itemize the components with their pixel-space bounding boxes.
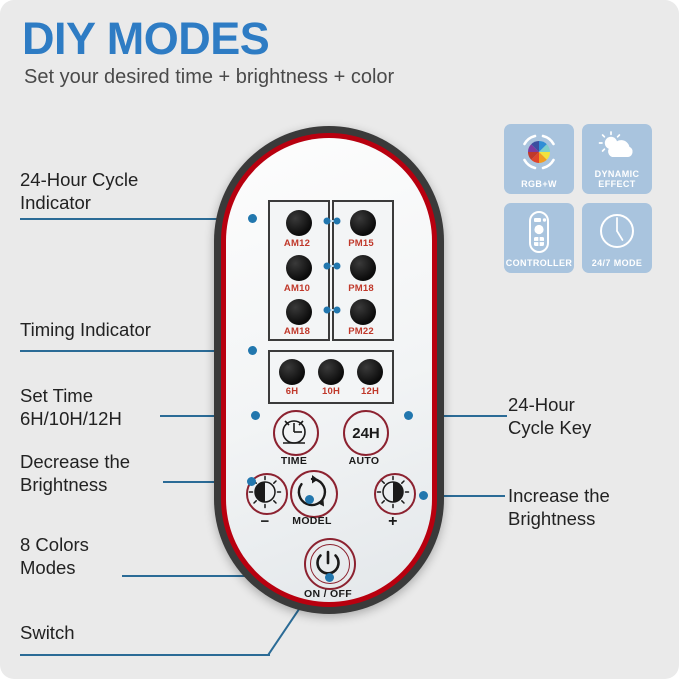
- duration-grid: 6H 10H 12H: [268, 350, 394, 404]
- timer-grid-left: AM12 AM10 AM18: [268, 200, 330, 341]
- badge-dynamic-effect: DYNAMIC EFFECT: [582, 124, 652, 194]
- page-title: DIY MODES: [22, 16, 269, 61]
- callout-line1: Timing Indicator: [20, 318, 151, 341]
- timer-button[interactable]: [286, 299, 312, 325]
- badge-label-line2: EFFECT: [598, 179, 635, 189]
- duration-button-label: 10H: [309, 386, 353, 397]
- sun-cloud-icon: [582, 131, 652, 161]
- model-button[interactable]: [290, 470, 338, 518]
- callout-switch: Switch: [20, 621, 75, 644]
- brightness-up-icon: [376, 475, 410, 509]
- callout-line1: Set Time: [20, 384, 122, 407]
- remote-control-body: AM12 AM10 AM18 PM15 PM18 PM22: [214, 126, 444, 614]
- callout-cycle-indicator: 24-Hour Cycle Indicator: [20, 168, 138, 214]
- duration-button[interactable]: [318, 359, 344, 385]
- 24h-text-icon: 24H: [352, 425, 380, 442]
- timer-button[interactable]: [286, 255, 312, 281]
- leader-dot-set-time: [251, 411, 260, 420]
- callout-line2: Brightness: [20, 473, 130, 496]
- leader-dot-timing-indicator: [248, 346, 257, 355]
- duration-button[interactable]: [357, 359, 383, 385]
- auto-24h-button[interactable]: 24H: [343, 410, 389, 456]
- page-subtitle: Set your desired time + brightness + col…: [24, 66, 394, 89]
- leader-dot-decrease: [247, 477, 256, 486]
- auto-24h-button-label: AUTO: [329, 455, 399, 467]
- brightness-up-label: +: [358, 513, 428, 531]
- cycle-arrow-icon: [292, 472, 332, 512]
- power-button[interactable]: [304, 538, 356, 590]
- model-button-label: MODEL: [277, 515, 347, 527]
- badge-label: CONTROLLER: [506, 258, 573, 273]
- callout-decrease-brightness: Decrease the Brightness: [20, 450, 130, 496]
- callout-line1: Switch: [20, 621, 75, 644]
- timer-button[interactable]: [350, 255, 376, 281]
- badge-label-line1: DYNAMIC: [595, 169, 640, 179]
- callout-line1: Increase the: [508, 484, 610, 507]
- leader-dot-cycle-key: [404, 411, 413, 420]
- leader-dot-cycle-indicator: [248, 214, 257, 223]
- badge-label: RGB+W: [521, 179, 557, 194]
- callout-line2: 6H/10H/12H: [20, 407, 122, 430]
- callout-line1: Decrease the: [20, 450, 130, 473]
- callout-line1: 24-Hour Cycle: [20, 168, 138, 191]
- clock-icon: [582, 210, 652, 254]
- callout-line1: 24-Hour: [508, 393, 591, 416]
- leader-dot-colors: [305, 495, 314, 504]
- callout-timing-indicator: Timing Indicator: [20, 318, 151, 341]
- callout-cycle-key: 24-Hour Cycle Key: [508, 393, 591, 439]
- badge-rgbw: RGB+W: [504, 124, 574, 194]
- timer-button-label: PM15: [339, 238, 383, 249]
- timer-grid-right: PM15 PM18 PM22: [332, 200, 394, 341]
- remote-face: AM12 AM10 AM18 PM15 PM18 PM22: [226, 138, 432, 602]
- callout-line1: 8 Colors: [20, 533, 89, 556]
- callout-8-colors-modes: 8 Colors Modes: [20, 533, 89, 579]
- infographic-panel: DIY MODES Set your desired time + bright…: [0, 0, 679, 679]
- duration-button[interactable]: [279, 359, 305, 385]
- timer-button[interactable]: [350, 299, 376, 325]
- leader-dot-switch: [325, 573, 334, 582]
- callout-set-time: Set Time 6H/10H/12H: [20, 384, 122, 430]
- timer-button-label: PM18: [339, 283, 383, 294]
- color-wheel-icon: [504, 131, 574, 173]
- timer-button-label: AM18: [275, 326, 319, 337]
- time-button-label: TIME: [259, 455, 329, 467]
- badge-label: 24/7 MODE: [592, 258, 643, 273]
- brightness-up-button[interactable]: [374, 473, 416, 515]
- timer-button-label: AM10: [275, 283, 319, 294]
- callout-line2: Brightness: [508, 507, 610, 530]
- callout-line2: Indicator: [20, 191, 138, 214]
- remote-controller-icon: [504, 210, 574, 254]
- duration-button-label: 12H: [348, 386, 392, 397]
- callout-line2: Cycle Key: [508, 416, 591, 439]
- timer-button[interactable]: [350, 210, 376, 236]
- callout-line2: Modes: [20, 556, 89, 579]
- badge-247-mode: 24/7 MODE: [582, 203, 652, 273]
- timer-button-label: AM12: [275, 238, 319, 249]
- callout-increase-brightness: Increase the Brightness: [508, 484, 610, 530]
- timer-button-label: PM22: [339, 326, 383, 337]
- leader-dot-increase: [419, 491, 428, 500]
- badge-controller: CONTROLLER: [504, 203, 574, 273]
- time-button[interactable]: [273, 410, 319, 456]
- power-button-label: ON / OFF: [293, 588, 363, 600]
- badge-label: DYNAMIC EFFECT: [595, 169, 640, 194]
- duration-button-label: 6H: [270, 386, 314, 397]
- timer-button[interactable]: [286, 210, 312, 236]
- leader-line-switch: [20, 654, 270, 656]
